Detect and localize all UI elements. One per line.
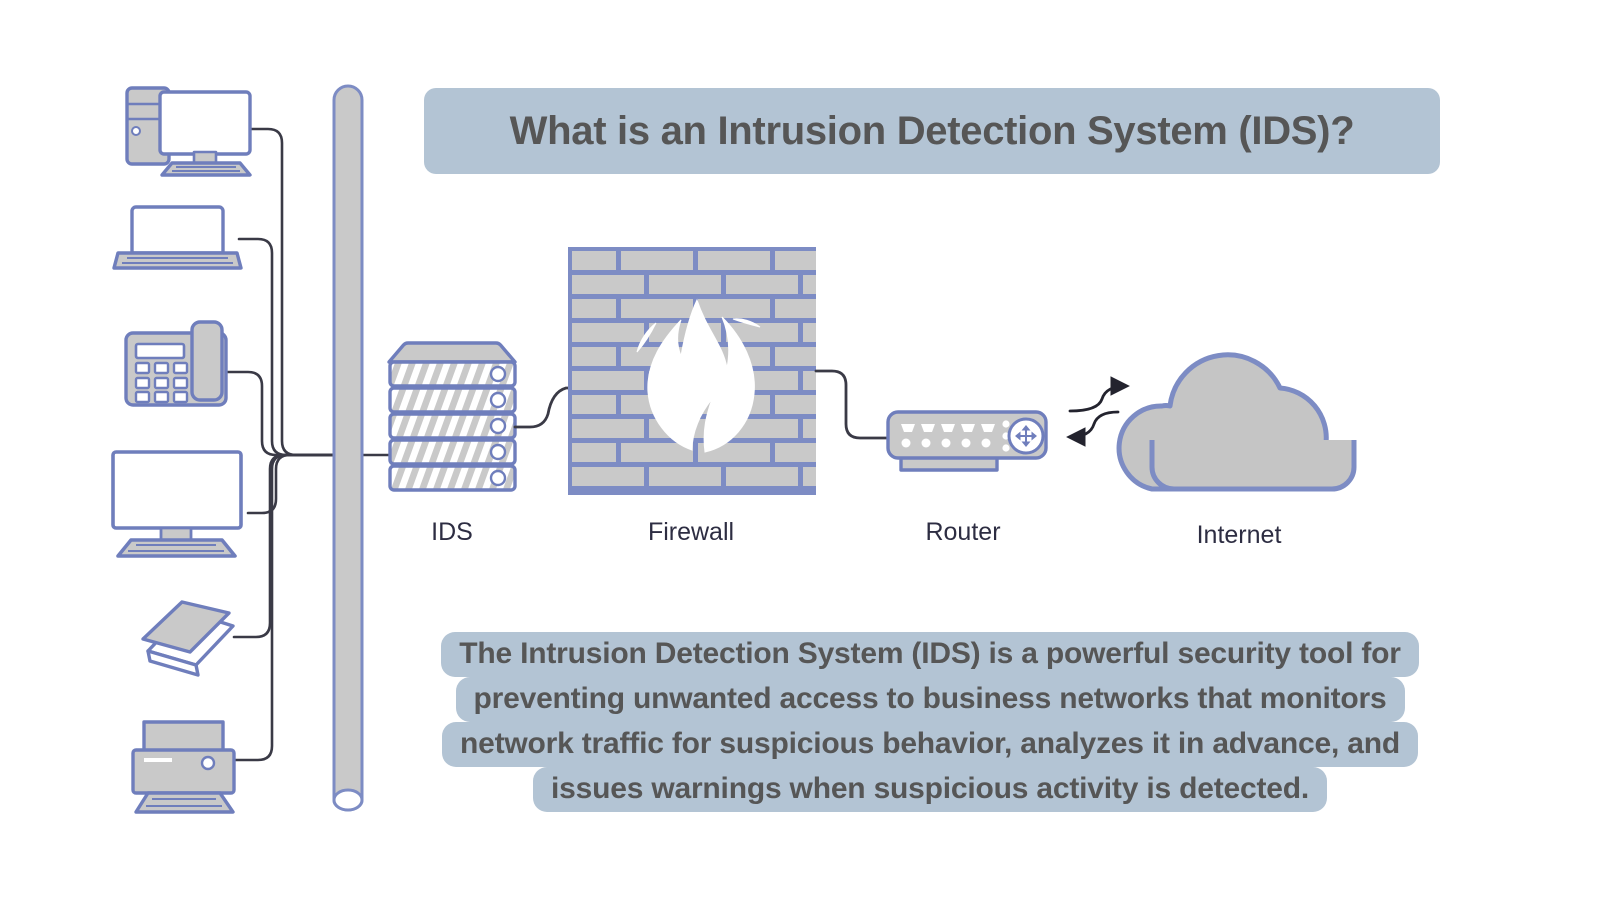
backbone-bar[interactable]	[334, 86, 362, 810]
description-line: issues warnings when suspicious activity…	[380, 767, 1480, 812]
flatbed-scanner-icon[interactable]	[143, 602, 233, 675]
description-line: network traffic for suspicious behavior,…	[380, 722, 1480, 767]
monitor-screen	[113, 452, 241, 528]
server-top	[389, 343, 515, 362]
description-line-text: issues warnings when suspicious activity…	[533, 767, 1327, 812]
network-backbone[interactable]	[334, 86, 362, 810]
laptop-base	[114, 253, 241, 268]
phone-keypad	[136, 363, 187, 402]
pc-monitor-screen	[160, 92, 250, 154]
description-block: The Intrusion Detection System (IDS) is …	[380, 632, 1480, 812]
desktop-computer-icon[interactable]	[127, 88, 250, 175]
arrow-router-to-internet	[1070, 386, 1126, 411]
cable-laptop	[239, 239, 340, 455]
brick-wall-flame-icon[interactable]	[568, 247, 847, 495]
cable-router-to-internet	[1070, 386, 1126, 437]
desk-phone-icon[interactable]	[126, 322, 226, 405]
backbone-bottom-cap	[334, 790, 362, 810]
printer-body	[133, 750, 234, 793]
laptop-icon[interactable]	[114, 207, 241, 268]
cable-ip-phone	[228, 372, 340, 455]
description-line-text: The Intrusion Detection System (IDS) is …	[441, 632, 1419, 677]
diagram-canvas: What is an Intrusion Detection System (I…	[0, 0, 1600, 900]
phone-display	[136, 344, 184, 358]
description-line: The Intrusion Detection System (IDS) is …	[380, 632, 1480, 677]
monitor-keyboard	[118, 540, 235, 556]
page-title: What is an Intrusion Detection System (I…	[510, 109, 1355, 154]
cable-firewall-to-router	[816, 371, 886, 438]
cloud-icon[interactable]	[1119, 334, 1354, 492]
arrow-internet-to-router	[1070, 412, 1118, 437]
pc-keyboard	[162, 163, 250, 175]
description-line-text: preventing unwanted access to business n…	[456, 677, 1405, 722]
printer-icon[interactable]	[133, 722, 234, 812]
description-line: preventing unwanted access to business n…	[380, 677, 1480, 722]
monitor-keyboard-icon[interactable]	[113, 452, 241, 556]
laptop-screen	[132, 207, 223, 253]
phone-handset	[192, 322, 222, 400]
router-icon[interactable]	[888, 412, 1046, 470]
cable-scanner	[234, 455, 340, 637]
printer-led	[202, 757, 214, 769]
title-banner: What is an Intrusion Detection System (I…	[424, 88, 1440, 174]
server-rack-icon[interactable]	[389, 343, 515, 490]
printer-tray	[136, 793, 233, 812]
description-line-text: network traffic for suspicious behavior,…	[442, 722, 1418, 767]
cable-monitor	[248, 455, 340, 513]
